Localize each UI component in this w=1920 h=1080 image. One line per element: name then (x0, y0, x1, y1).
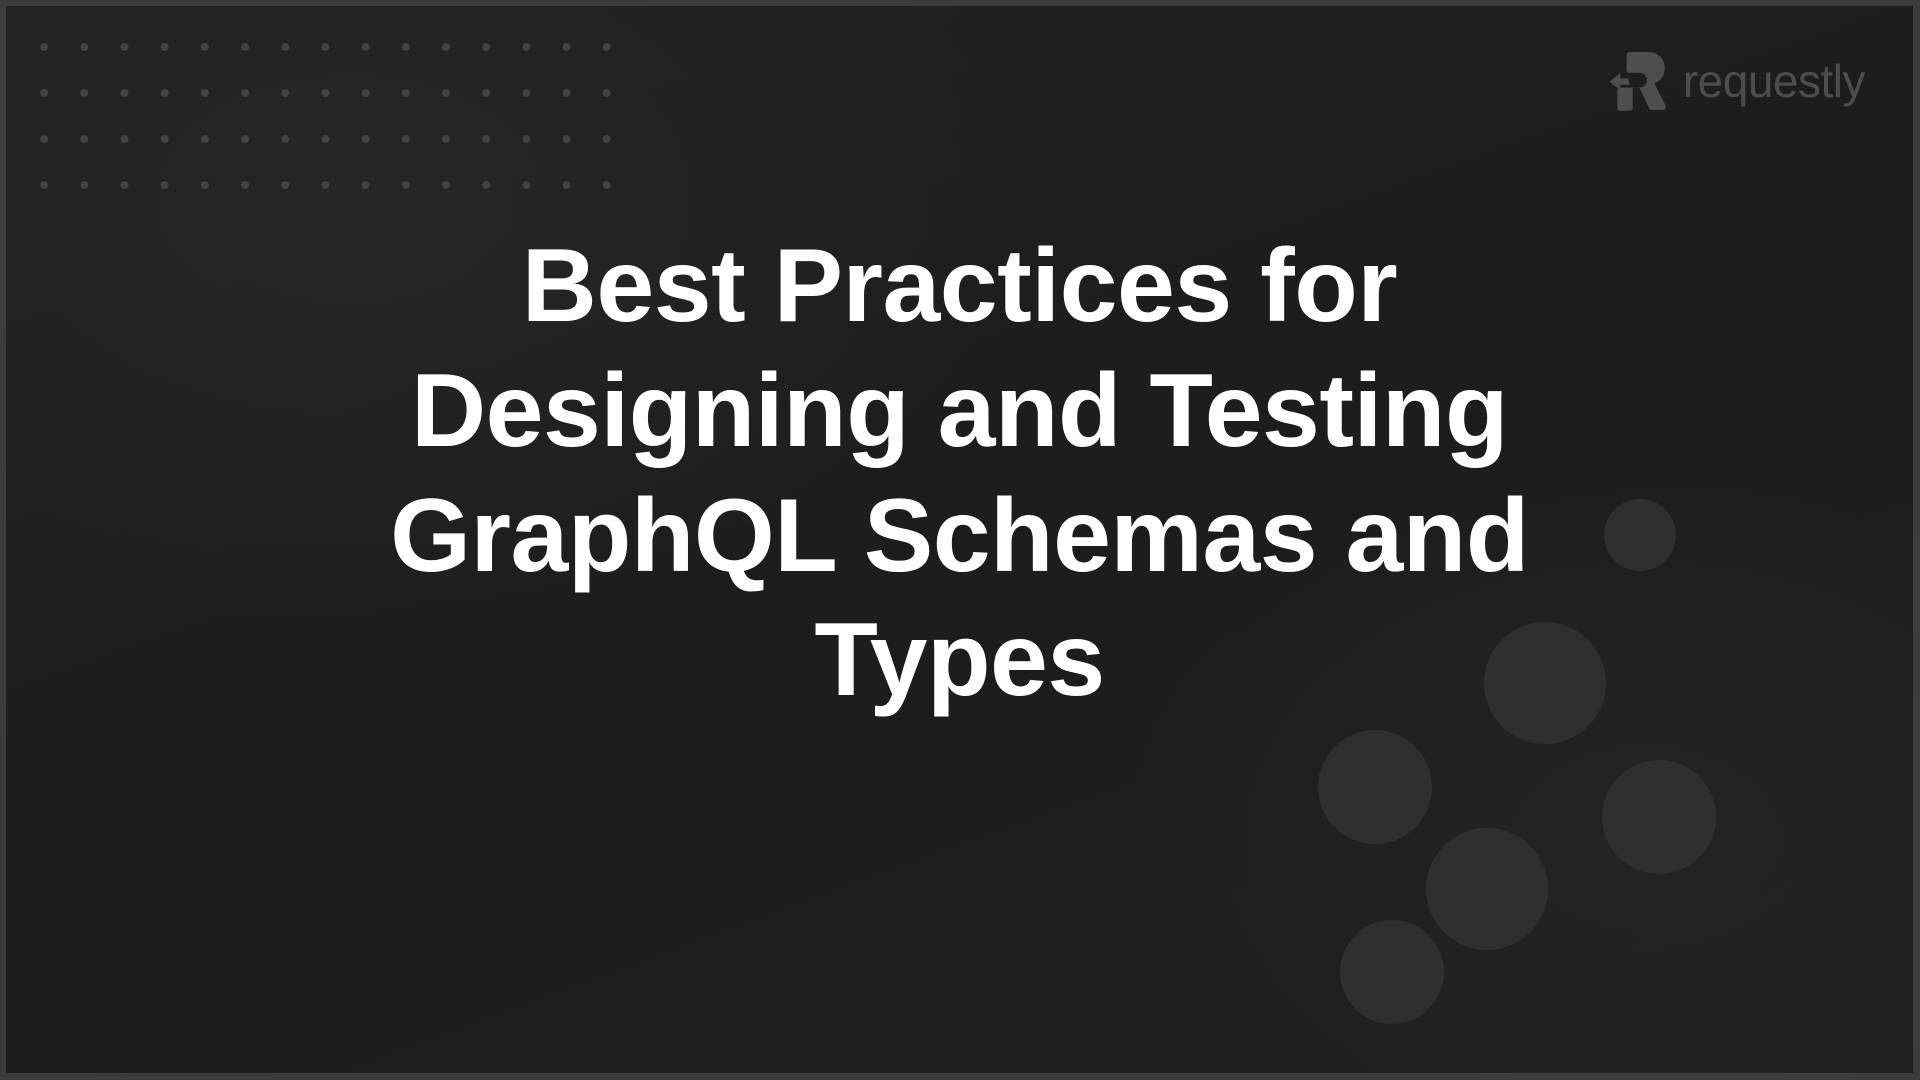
brand-logo: requestly (1609, 50, 1865, 112)
dot-grid-pattern-icon (24, 24, 624, 208)
title-container: Best Practices for Designing and Testing… (6, 224, 1913, 723)
brand-wordmark: requestly (1683, 58, 1865, 104)
deco-circle-3 (1318, 730, 1432, 844)
requestly-r-arrow-logo-icon (1609, 50, 1667, 112)
deco-circle-5 (1426, 828, 1548, 950)
page-title: Best Practices for Designing and Testing… (295, 224, 1625, 723)
deco-circle-6 (1340, 920, 1444, 1024)
cover-canvas: requestly Best Practices for Designing a… (6, 6, 1913, 1073)
cover-frame: requestly Best Practices for Designing a… (0, 0, 1920, 1080)
deco-circle-4 (1602, 760, 1716, 874)
